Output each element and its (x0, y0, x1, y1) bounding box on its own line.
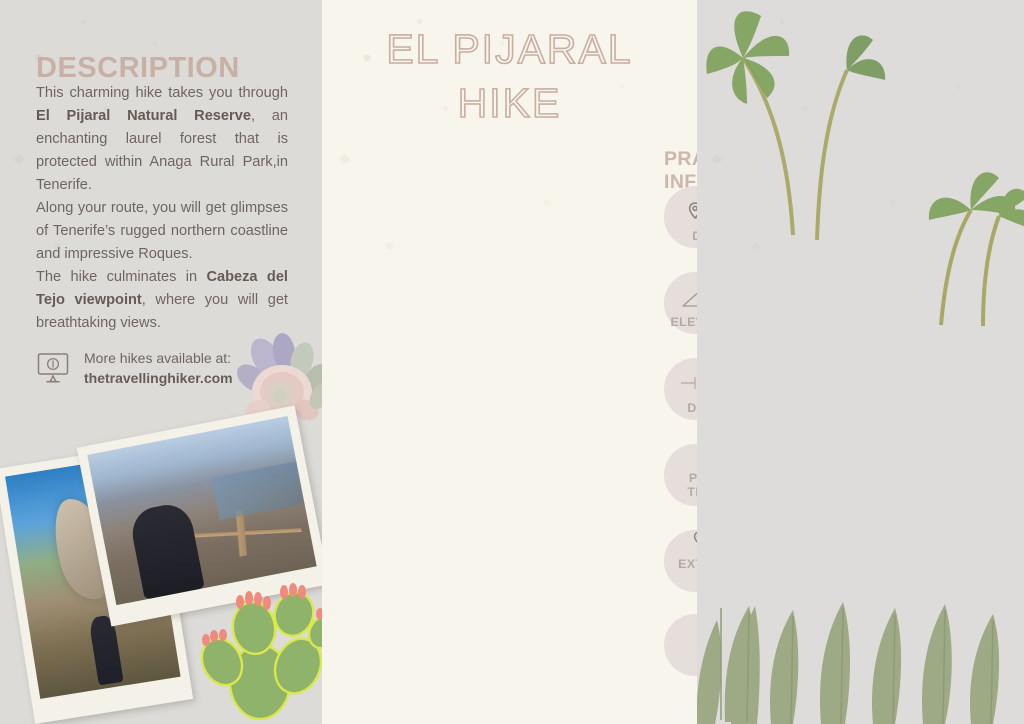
paper-texture-right (697, 0, 1024, 724)
monitor-info-icon (36, 351, 70, 385)
info-row-elevation: ELEVATION GAIN This route has 298m of po… (664, 272, 697, 336)
description-body: This charming hike takes you through El … (36, 82, 288, 336)
fern-border-decoration (697, 600, 1024, 724)
info-row-distance: DISTANCE Circular route of 6,4 km along … (664, 186, 697, 272)
center-panel: EL PIJARAL HIKE PRACTICAL INFORMATION (322, 0, 697, 724)
description-paragraph-2: Along your route, you will get glimpses … (36, 197, 288, 266)
pill-label-parking: PARKING & TRAILHEAD (664, 472, 697, 500)
pill-label-extend: EXTEND YOUR HIKE (664, 558, 697, 586)
description-paragraph-1: This charming hike takes you through El … (36, 82, 288, 197)
more-hikes-block: More hikes available at: thetravellinghi… (36, 349, 291, 389)
info-row-extend: EXTEND YOUR HIKE Extend your hike and co… (664, 530, 697, 592)
description-heading: DESCRIPTION (36, 52, 240, 85)
more-hikes-label: More hikes available at: (84, 350, 231, 366)
map-fold-icon (664, 618, 697, 650)
pill-distance: DISTANCE (664, 186, 697, 248)
right-panel: RECOMMENDATIONS This trail is limited to… (697, 0, 1024, 724)
pill-difficulty: DIFFICULTY (664, 358, 697, 420)
photo-coastline-viewpoint-image (87, 416, 316, 605)
description-paragraph-3: The hike culminates in Cabeza del Tejo v… (36, 266, 288, 335)
palm-leaves-decoration-right (887, 140, 1024, 330)
palm-leaves-decoration-left (697, 0, 897, 250)
mountain-icon (664, 276, 697, 308)
title-line-1: EL PIJARAL (322, 22, 697, 76)
website-link[interactable]: thetravellinghiker.com (84, 370, 233, 386)
trail-path-icon (664, 532, 697, 554)
pill-parking: PARKING & TRAILHEAD (664, 444, 697, 506)
pill-label-elevation: ELEVATION GAIN (670, 316, 697, 329)
left-panel: DESCRIPTION This charming hike takes you… (0, 0, 322, 724)
pulse-hiker-icon (664, 362, 697, 394)
route-pins-icon (664, 190, 697, 222)
brochure-page: DESCRIPTION This charming hike takes you… (0, 0, 1024, 724)
pill-label-distance: DISTANCE (692, 230, 697, 243)
brochure-title: EL PIJARAL HIKE (322, 22, 697, 130)
pill-visit: VISIT (664, 614, 697, 676)
info-row-parking: PARKING & TRAILHEAD Park in one of the t… (664, 444, 697, 530)
title-line-2: HIKE (322, 76, 697, 130)
info-row-visit: VISIT Stop at the different viewpoints l… (664, 614, 697, 678)
more-hikes-text: More hikes available at: thetravellinghi… (84, 349, 233, 389)
parking-pin-icon (664, 446, 697, 470)
info-row-difficulty: DIFFICULTY This route is considered a mo… (664, 358, 697, 420)
photo-coastline-viewpoint (77, 405, 322, 626)
pill-extend: EXTEND YOUR HIKE (664, 530, 697, 592)
pill-label-difficulty: DIFFICULTY (687, 402, 697, 415)
pill-elevation: ELEVATION GAIN (664, 272, 697, 334)
